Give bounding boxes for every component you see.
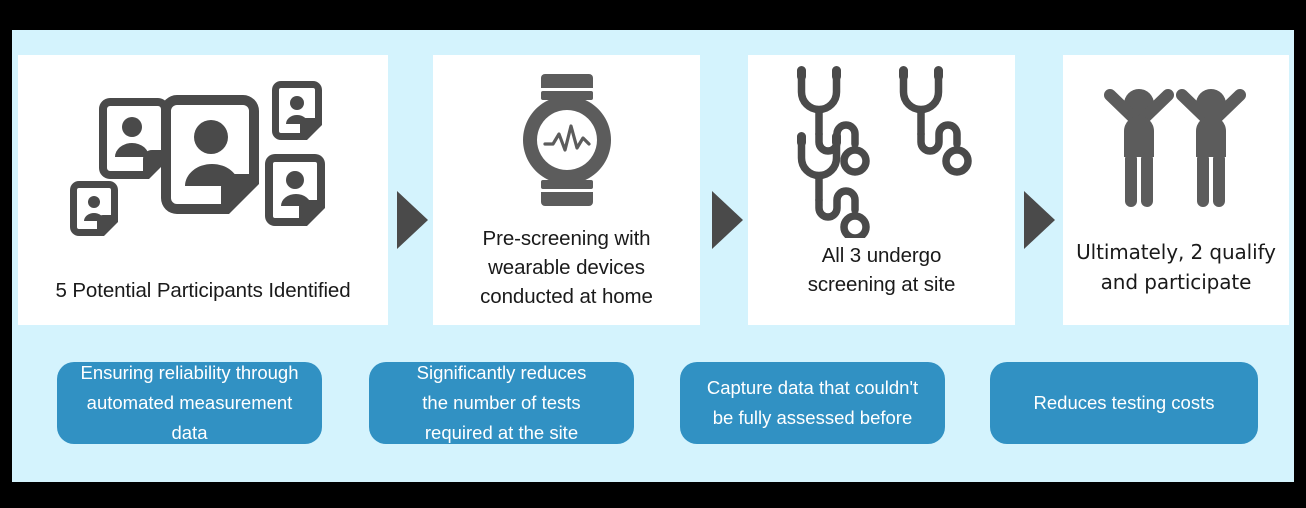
participant-documents-icon	[18, 55, 388, 276]
arrow-right-icon	[712, 191, 743, 249]
flow-step-caption-2: Pre-screening with wearable devices cond…	[433, 224, 700, 325]
screenshot-canvas: 5 Potential Participants Identified	[0, 0, 1306, 508]
flow-step-caption-4: Ultimately, 2 qualify and participate	[1063, 237, 1289, 325]
arrow-right-icon	[1024, 191, 1055, 249]
flow-step-card-4[interactable]: Ultimately, 2 qualify and participate	[1063, 55, 1289, 325]
benefit-pill-3[interactable]: Capture data that couldn't be fully asse…	[680, 362, 945, 444]
benefit-pill-1[interactable]: Ensuring reliability through automated m…	[57, 362, 322, 444]
stethoscope-icon	[748, 55, 1015, 241]
benefit-pill-4[interactable]: Reduces testing costs	[990, 362, 1258, 444]
flow-step-caption-1: 5 Potential Participants Identified	[18, 276, 388, 325]
flow-step-caption-3: All 3 undergo screening at site	[748, 241, 1015, 325]
flow-diagram-stage: 5 Potential Participants Identified	[12, 30, 1294, 482]
benefit-pill-2[interactable]: Significantly reduces the number of test…	[369, 362, 634, 444]
flow-step-card-2[interactable]: Pre-screening with wearable devices cond…	[433, 55, 700, 325]
smartwatch-ecg-icon	[433, 55, 700, 224]
flow-step-card-1[interactable]: 5 Potential Participants Identified	[18, 55, 388, 325]
flow-step-card-3[interactable]: All 3 undergo screening at site	[748, 55, 1015, 325]
person-arms-raised-icon	[1063, 55, 1289, 237]
arrow-right-icon	[397, 191, 428, 249]
